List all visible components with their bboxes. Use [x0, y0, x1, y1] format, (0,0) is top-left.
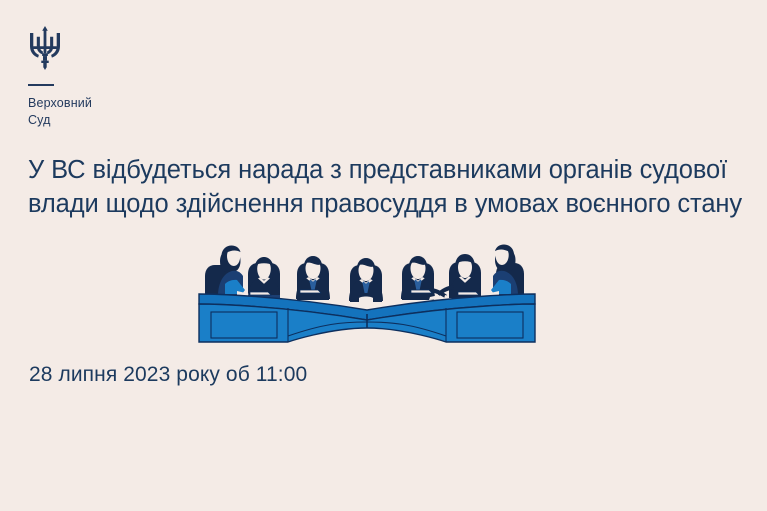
- announcement-card: Верховний Суд У ВС відбудеться нарада з …: [0, 0, 767, 511]
- brand-name-label: Верховний Суд: [28, 95, 228, 128]
- brand-block: Верховний Суд: [28, 26, 228, 128]
- brand-divider: [28, 84, 54, 86]
- ukraine-trident-emblem-icon: [28, 26, 228, 70]
- conference-table-meeting-illustration: [193, 228, 541, 350]
- event-datetime-label: 28 липня 2023 року об 11:00: [29, 361, 307, 389]
- headline-title: У ВС відбудеться нарада з представниками…: [28, 153, 744, 221]
